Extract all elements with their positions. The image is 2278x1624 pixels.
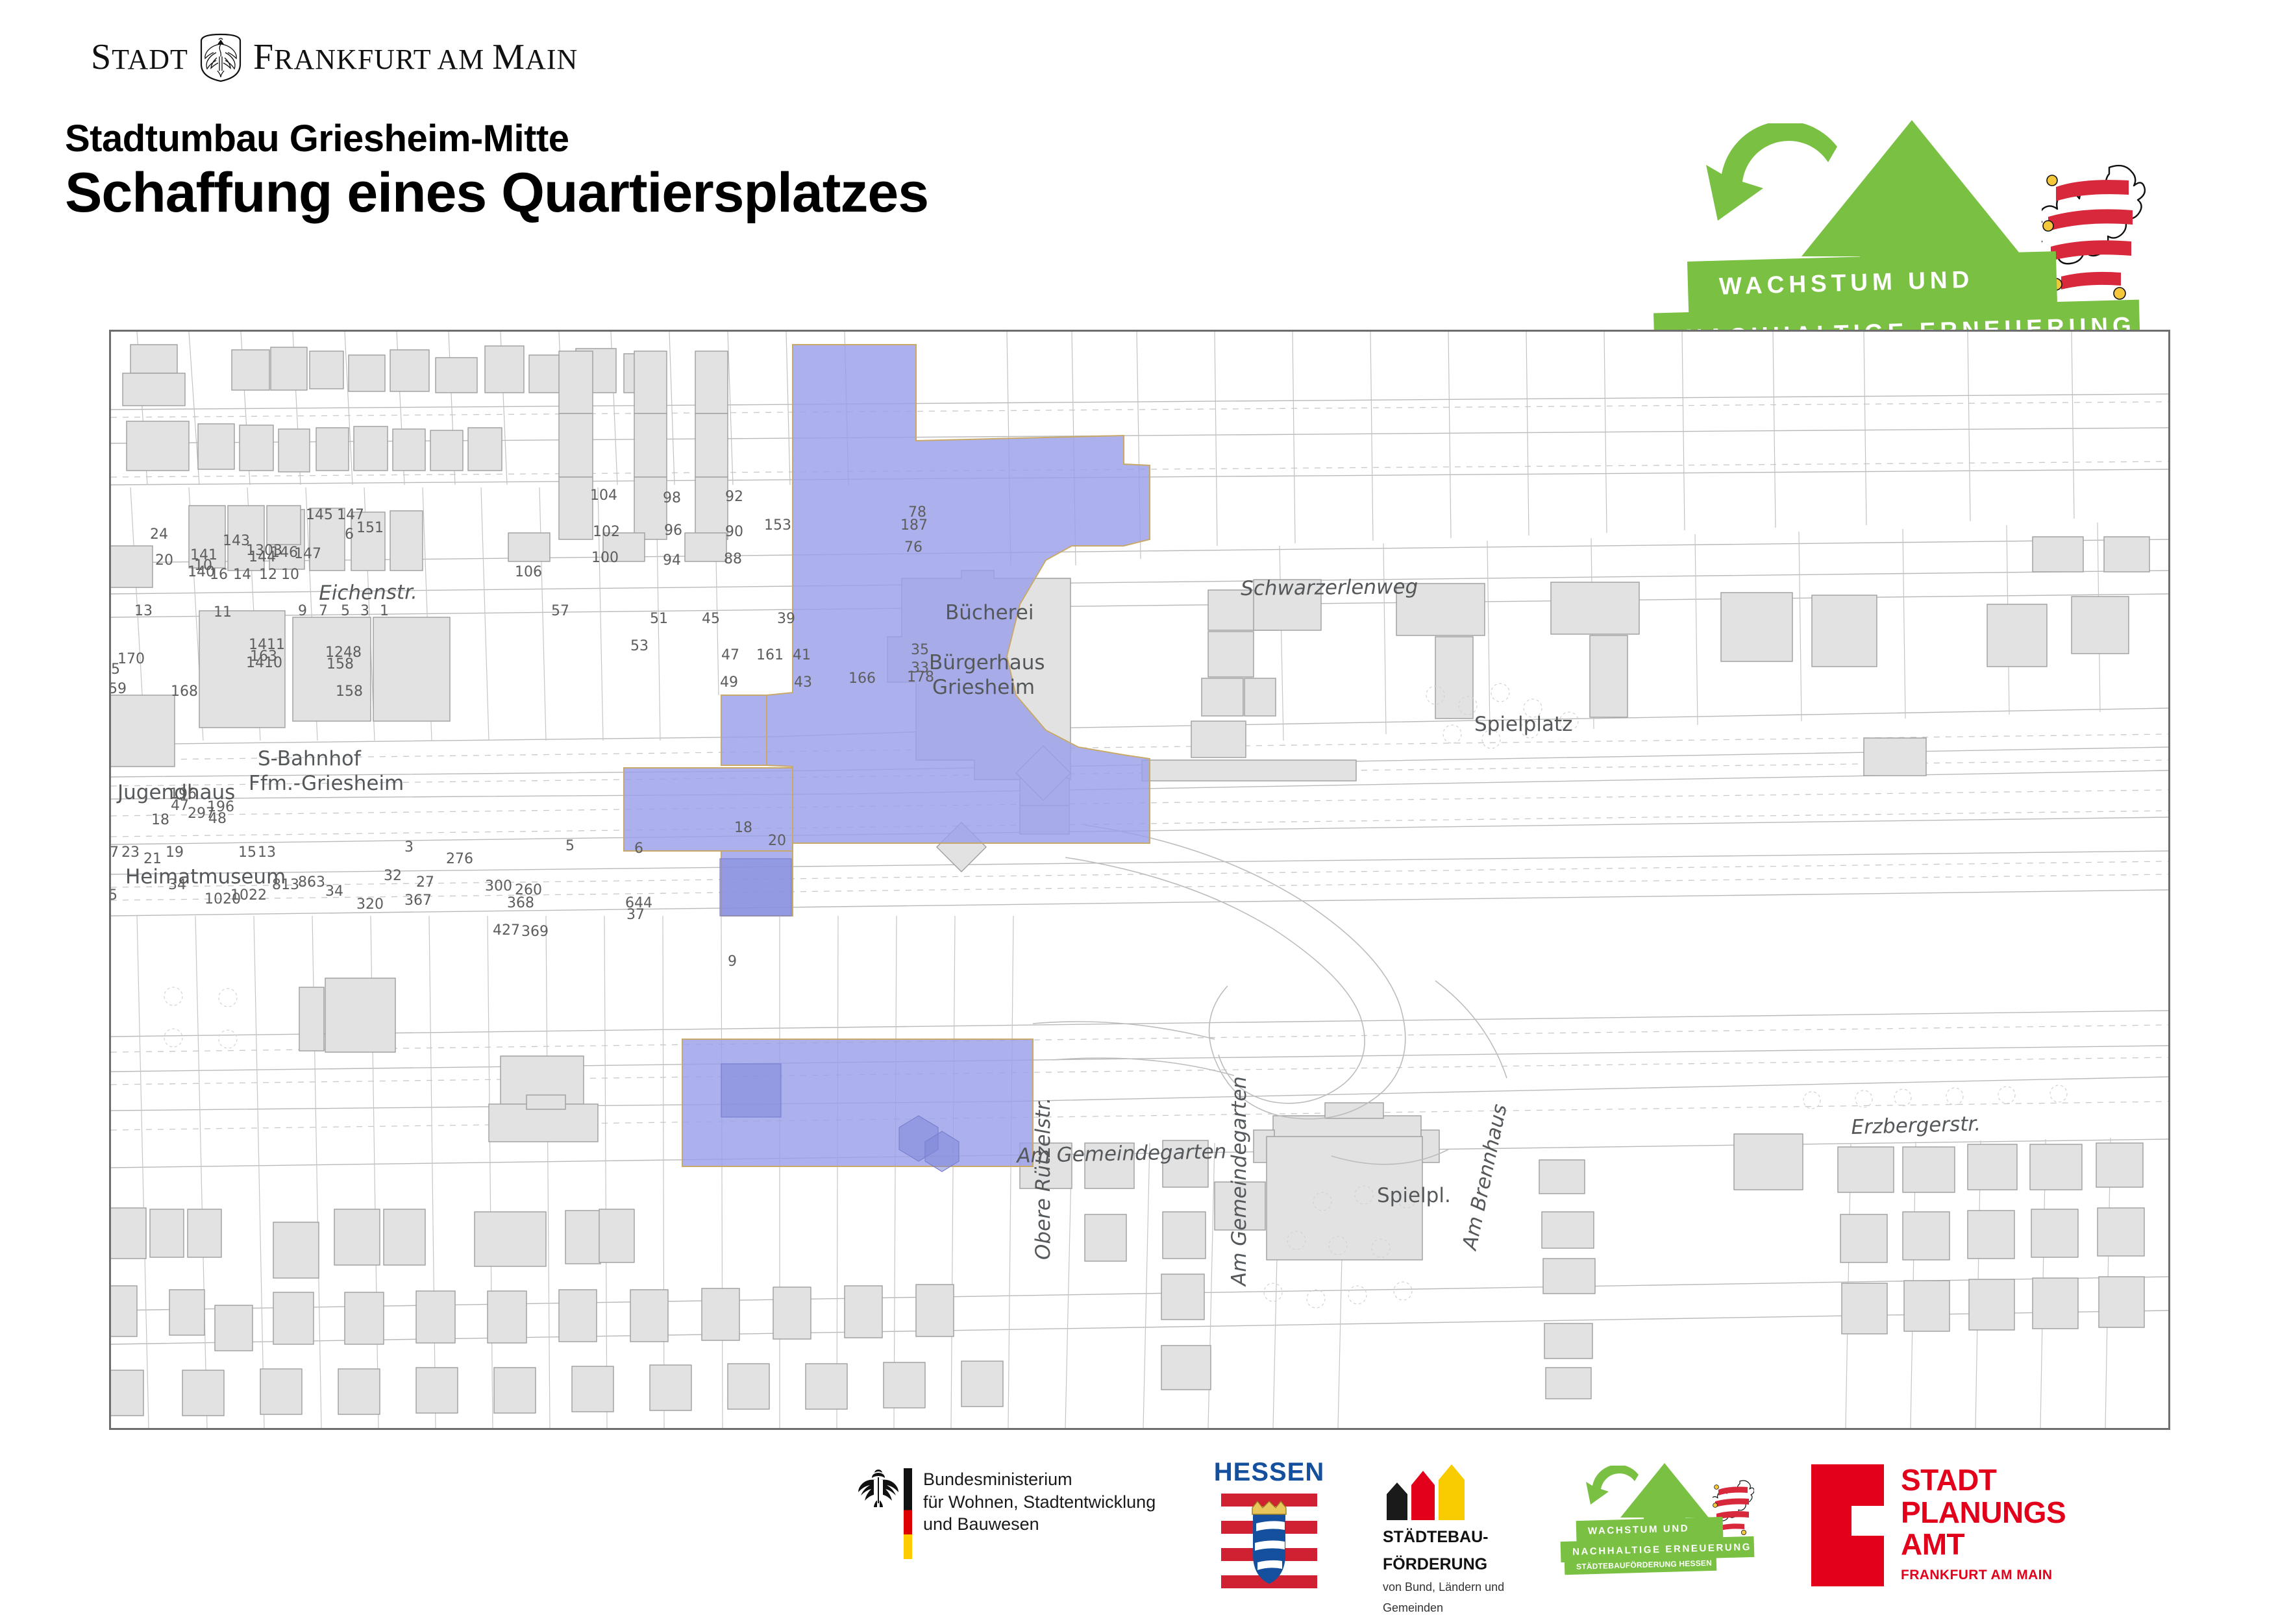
hessen-flag-icon bbox=[1221, 1492, 1317, 1590]
hessen-logo: HESSEN bbox=[1207, 1454, 1331, 1610]
page-title: Schaffung eines Quartiersplatzes bbox=[65, 161, 928, 225]
german-flag-bar bbox=[904, 1468, 912, 1559]
city-logo-right: FRANKFURT AM MAIN bbox=[253, 36, 578, 78]
city-logo: STADT FRANKFURT AM MAIN bbox=[91, 31, 506, 83]
map-canvas bbox=[111, 332, 2168, 1428]
stadtplanungsamt-text: STADT PLANUNGS AMT FRANKFURT AM MAIN bbox=[1901, 1464, 2066, 1583]
hessen-wordmark: HESSEN bbox=[1207, 1458, 1331, 1487]
sbf-sub-1: von Bund, Ländern und bbox=[1383, 1580, 1545, 1595]
spa-line-3: AMT bbox=[1901, 1529, 2066, 1561]
wne-footer-logo: WACHSTUM UND NACHHALTIGE ERNEUERUNG STÄD… bbox=[1571, 1454, 1785, 1610]
sbf-line-1: STÄDTEBAU- bbox=[1383, 1528, 1545, 1547]
bmwsb-line-2: für Wohnen, Stadtentwicklung bbox=[923, 1491, 1156, 1514]
spa-line-2: PLANUNGS bbox=[1901, 1497, 2066, 1529]
stadtplanungsamt-logo: STADT PLANUNGS AMT FRANKFURT AM MAIN bbox=[1811, 1454, 2149, 1620]
bundesadler-icon bbox=[857, 1468, 900, 1508]
city-logo-left: STADT bbox=[91, 36, 188, 78]
staedtebaufoerderung-logo: STÄDTEBAU- FÖRDERUNG von Bund, Ländern u… bbox=[1383, 1454, 1545, 1610]
bmwsb-text: Bundesministerium für Wohnen, Stadtentwi… bbox=[923, 1468, 1156, 1536]
cadastral-map[interactable]: Eichenstr.SchwarzerlenwegAm Gemeindegart… bbox=[109, 330, 2170, 1430]
frankfurt-eagle-icon bbox=[197, 32, 244, 82]
header: STADT FRANKFURT AM MAIN bbox=[0, 0, 2278, 305]
three-houses-icon bbox=[1383, 1454, 1545, 1520]
bmwsb-line-3: und Bauwesen bbox=[923, 1513, 1156, 1536]
sbf-sub-2: Gemeinden bbox=[1383, 1601, 1545, 1616]
sbf-line-2: FÖRDERUNG bbox=[1383, 1555, 1545, 1575]
project-subtitle: Stadtumbau Griesheim-Mitte bbox=[65, 117, 569, 160]
spa-line-1: STADT bbox=[1901, 1464, 2066, 1497]
hessen-lion-icon bbox=[2042, 156, 2146, 305]
spa-subtitle: FRANKFURT AM MAIN bbox=[1901, 1568, 2066, 1583]
wne-band-3: STÄDTEBAUFÖRDERUNG HESSEN bbox=[1565, 1555, 1717, 1575]
stadtplanungsamt-mark-icon bbox=[1811, 1464, 1884, 1586]
bmwsb-logo: Bundesministerium für Wohnen, Stadtentwi… bbox=[857, 1454, 1207, 1624]
footer-logos: Bundesministerium für Wohnen, Stadtentwi… bbox=[0, 1454, 2278, 1610]
bmwsb-line-1: Bundesministerium bbox=[923, 1468, 1156, 1491]
